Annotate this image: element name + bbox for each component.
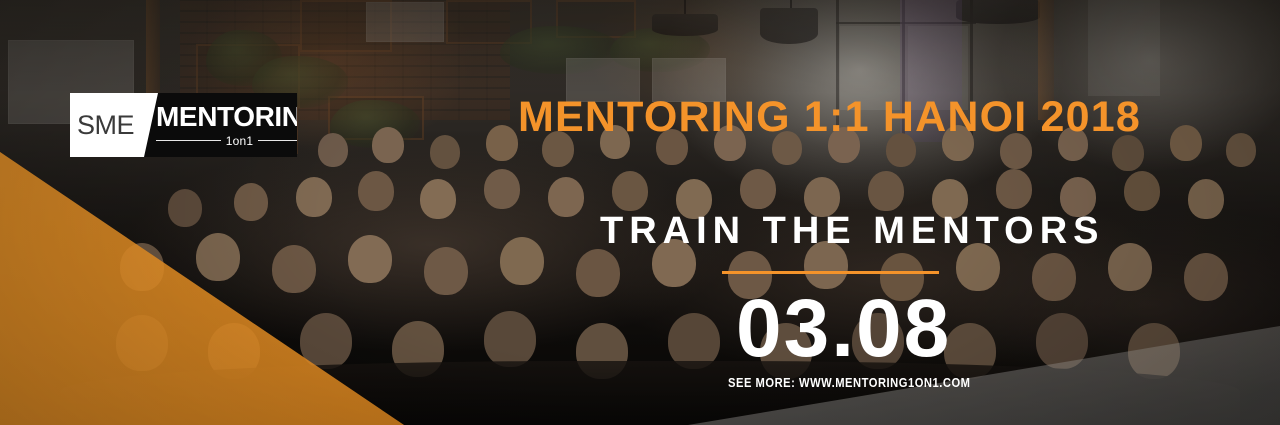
crowd-head: [1184, 253, 1228, 301]
crowd-head: [372, 127, 404, 163]
logo-prefix: SME: [70, 93, 144, 157]
crowd-head: [484, 169, 520, 209]
pendant-lamp: [652, 14, 718, 36]
crowd-head: [234, 183, 268, 221]
logo-wordmark: MENTORING: [156, 103, 297, 131]
crowd-head: [548, 177, 584, 217]
crowd-head: [484, 311, 536, 367]
logo-prefix-text: SME: [77, 112, 134, 139]
pendant-lamp: [760, 8, 818, 44]
see-more-url[interactable]: SEE MORE: WWW.MENTORING1ON1.COM: [728, 376, 971, 389]
crowd-head: [612, 171, 648, 211]
crowd-head: [296, 177, 332, 217]
logo-rule-right: [258, 140, 297, 141]
crowd-head: [168, 189, 202, 227]
crowd-head: [500, 237, 544, 285]
event-headline: MENTORING 1:1 HANOI 2018: [518, 96, 1141, 139]
crowd-head: [576, 249, 620, 297]
crowd-head: [424, 247, 468, 295]
crowd-head: [1188, 179, 1224, 219]
pendant-lamp: [956, 0, 1040, 24]
crowd-head: [196, 233, 240, 281]
crowd-head: [1226, 133, 1256, 167]
crowd-head: [272, 245, 316, 293]
orange-divider-rule: [722, 271, 939, 274]
crowd-head: [318, 133, 348, 167]
logo-rule-left: [156, 140, 221, 141]
crowd-head: [358, 171, 394, 211]
crowd-head: [996, 169, 1032, 209]
logo-subtitle-text: 1on1: [226, 135, 254, 147]
crowd-head: [420, 179, 456, 219]
crowd-head: [1032, 253, 1076, 301]
event-subheadline: TRAIN THE MENTORS: [600, 212, 1105, 250]
window-panel: [1088, 0, 1160, 96]
crowd-head: [430, 135, 460, 169]
crowd-head: [1170, 125, 1202, 161]
logo-subtitle-row: 1on1: [156, 135, 297, 147]
crowd-head: [348, 235, 392, 283]
crowd-head: [740, 169, 776, 209]
event-banner: SME MENTORING 1on1 MENTORING 1:1 HANOI 2…: [0, 0, 1280, 425]
crowd-head: [868, 171, 904, 211]
event-date: 03.08: [736, 288, 951, 370]
logo-block: MENTORING 1on1: [144, 93, 297, 157]
crowd-head: [486, 125, 518, 161]
crowd-head: [1124, 171, 1160, 211]
sme-mentoring-logo[interactable]: SME MENTORING 1on1: [70, 93, 297, 157]
wall-poster: [366, 2, 444, 42]
crowd-head: [1108, 243, 1152, 291]
